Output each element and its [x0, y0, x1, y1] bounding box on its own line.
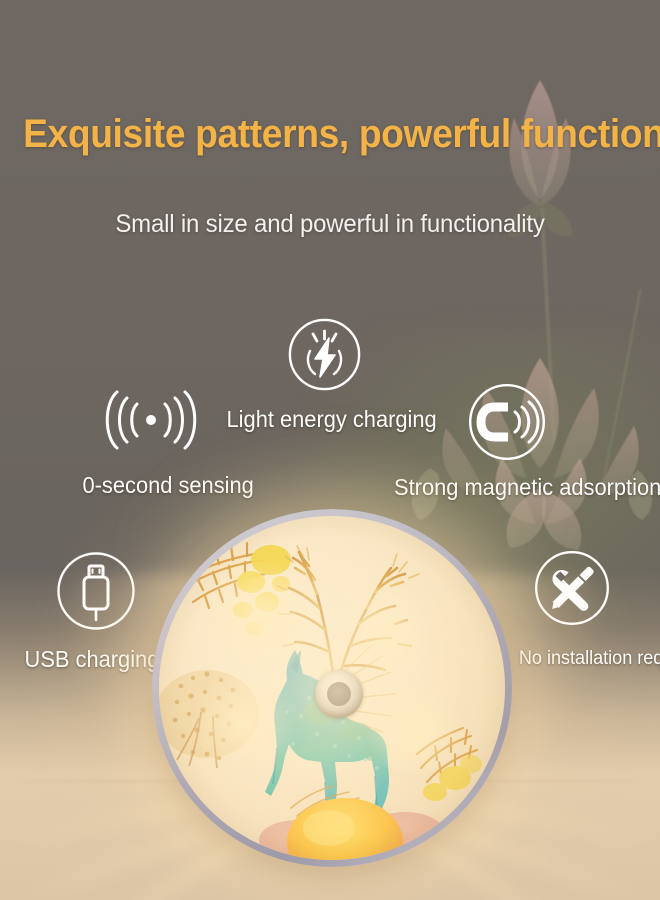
- feature-usb-charging-label: USB charging: [25, 646, 160, 673]
- feature-sensing-label: 0-second sensing: [83, 472, 254, 499]
- wrench-screwdriver-icon: [534, 550, 610, 626]
- page-title: Exquisite patterns, powerful functions: [23, 112, 637, 156]
- pir-sensor-dome[interactable]: [315, 670, 363, 718]
- feature-magnetic-label: Strong magnetic adsorption: [394, 474, 660, 501]
- horseshoe-magnet-icon: [468, 383, 546, 461]
- feature-no-installation-label: No installation required: [519, 648, 660, 670]
- lightning-bolt-icon: [288, 318, 361, 391]
- lamp-face: [159, 516, 505, 860]
- page-subtitle: Small in size and powerful in functional…: [13, 209, 647, 239]
- product-feature-banner: Exquisite patterns, powerful functions S…: [0, 0, 660, 900]
- feature-light-charging-label: Light energy charging: [227, 406, 437, 433]
- motion-sensor-icon: [105, 386, 197, 454]
- usb-plug-icon: [56, 551, 136, 631]
- night-light-product[interactable]: [152, 509, 512, 867]
